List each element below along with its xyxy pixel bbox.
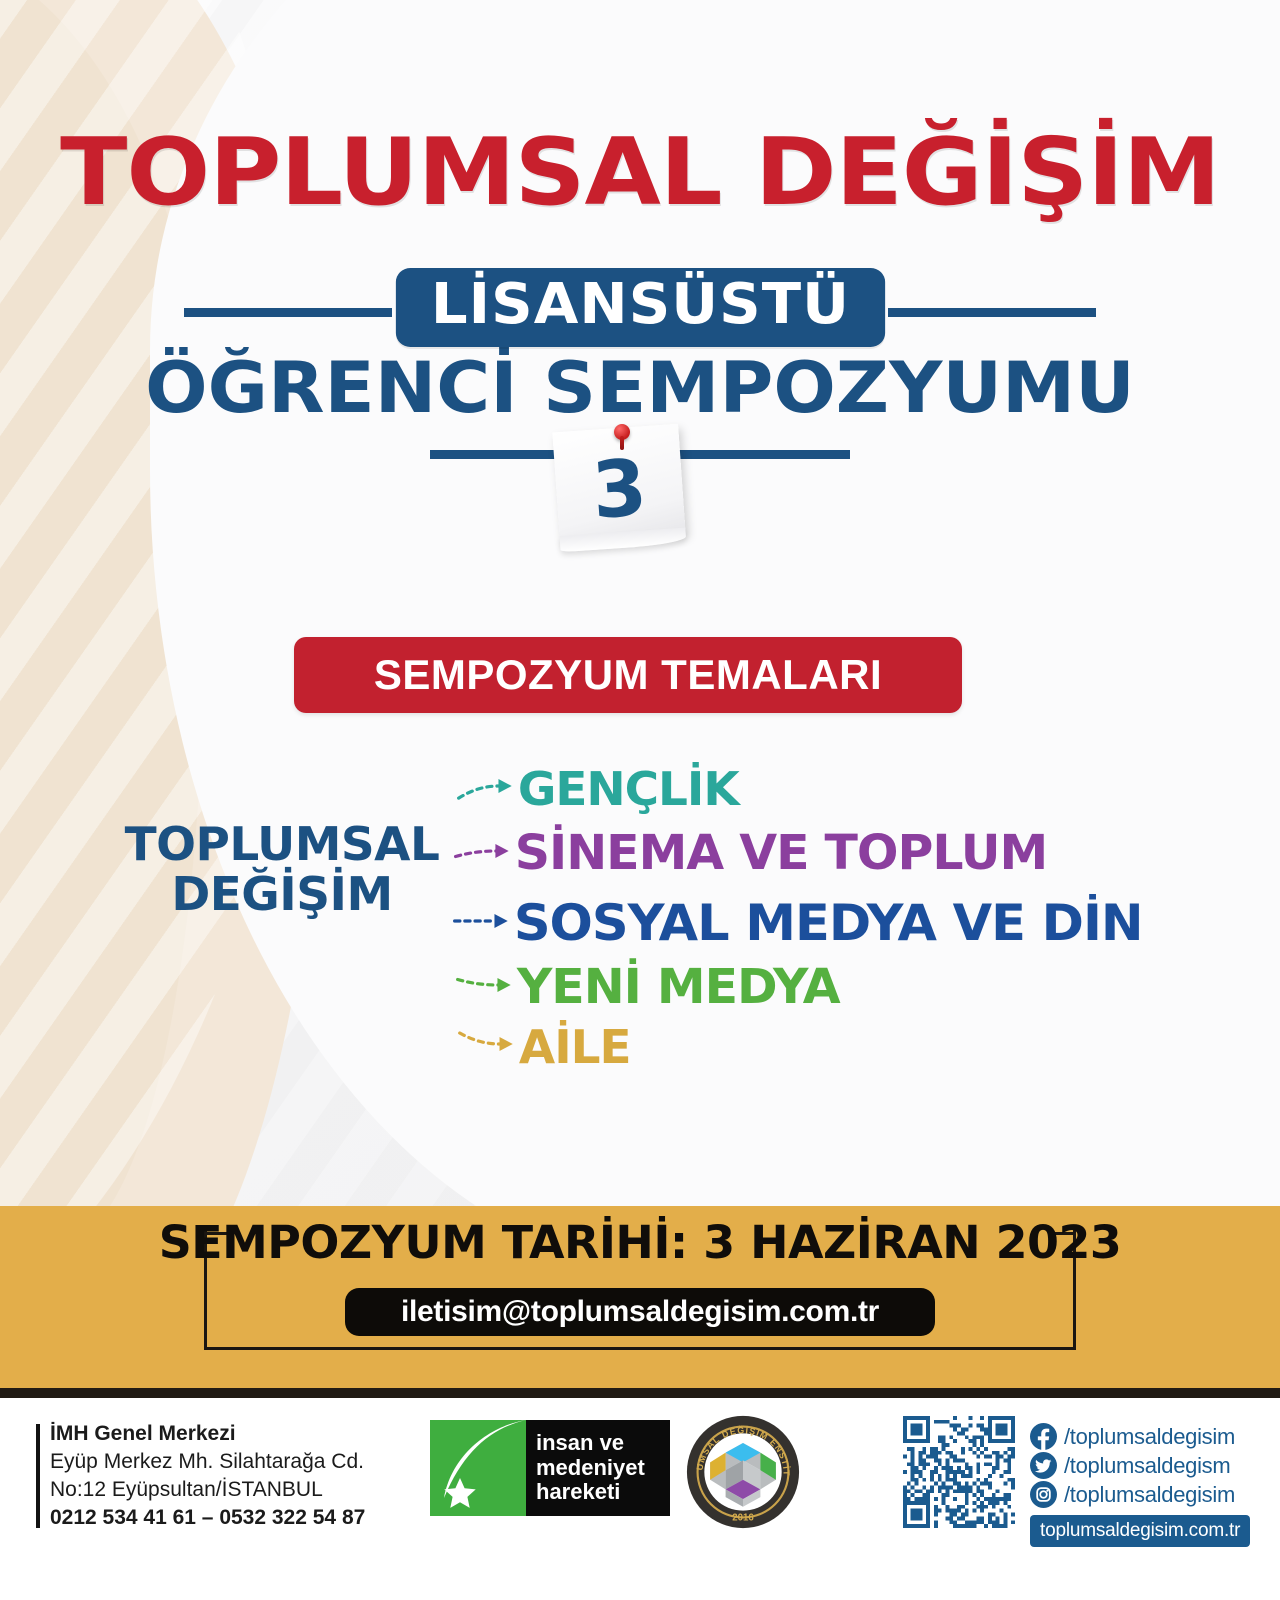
social-handle: /toplumsaldegism — [1064, 1453, 1230, 1479]
curved-arrow-icon — [455, 760, 514, 814]
theme-item: SOSYAL MEDYA VE DİN — [514, 890, 1143, 952]
emblem-year: 2016 — [732, 1512, 754, 1523]
theme-item: AİLE — [519, 1016, 631, 1074]
pushpin-icon — [614, 424, 630, 440]
social-link-twitter[interactable]: /toplumsaldegism — [1030, 1451, 1250, 1480]
imh-line-1: insan ve — [536, 1431, 670, 1456]
address-block: İMH Genel Merkezi Eyüp Merkez Mh. Silaht… — [36, 1420, 365, 1532]
social-handle: /toplumsaldegisim — [1064, 1424, 1235, 1450]
website-link[interactable]: toplumsaldegisim.com.tr — [1030, 1515, 1250, 1547]
social-link-instagram[interactable]: /toplumsaldegisim — [1030, 1480, 1250, 1509]
theme-label: AİLE — [519, 1020, 631, 1074]
subtitle-block: LİSANSÜSTÜ ÖĞRENCİ SEMPOZYUMU — [0, 268, 1280, 425]
theme-label: SİNEMA VE TOPLUM — [515, 825, 1047, 881]
twitter-icon — [1030, 1452, 1057, 1479]
curved-arrow-icon — [454, 958, 513, 1014]
theme-item: SİNEMA VE TOPLUM — [515, 822, 1047, 881]
imh-line-2: medeniyet — [536, 1456, 670, 1481]
social-handle: /toplumsaldegisim — [1064, 1482, 1235, 1508]
instagram-icon — [1030, 1481, 1057, 1508]
social-link-facebook[interactable]: /toplumsaldegisim — [1030, 1422, 1250, 1451]
edition-number: 3 — [552, 424, 685, 543]
rule-left — [184, 308, 392, 317]
band-bottom-bar — [0, 1388, 1280, 1398]
edition-note: 3 — [552, 424, 685, 543]
curved-arrow-icon — [452, 824, 511, 880]
phone-numbers: 0212 534 41 61 – 0532 322 54 87 — [50, 1504, 365, 1532]
footer: İMH Genel Merkezi Eyüp Merkez Mh. Silaht… — [0, 1398, 1280, 1600]
themes-source-label: TOPLUMSAL DEĞİŞİM — [109, 820, 456, 919]
imh-wordmark: insan ve medeniyet hareketi — [526, 1420, 670, 1516]
theme-label: GENÇLİK — [518, 762, 739, 816]
poster: TOPLUMSAL DEĞİŞİM LİSANSÜSTÜ ÖĞRENCİ SEM… — [0, 0, 1280, 1600]
theme-item: YENİ MEDYA — [517, 956, 840, 1015]
address-line-1: Eyüp Merkez Mh. Silahtarağa Cd. — [50, 1448, 365, 1476]
rule-right — [888, 308, 1096, 317]
imh-logo: insan ve medeniyet hareketi — [430, 1420, 670, 1516]
org-name: İMH Genel Merkezi — [50, 1420, 365, 1448]
institute-emblem: TOPLUMSAL DEĞİŞİM ENSTİTÜSÜ 2016 — [685, 1414, 801, 1530]
symposium-date: SEMPOZYUM TARİHİ: 3 HAZİRAN 2023 — [0, 1216, 1280, 1269]
imh-line-3: hareketi — [536, 1480, 670, 1505]
theme-item: GENÇLİK — [518, 758, 739, 816]
contact-email[interactable]: iletisim@toplumsaldegisim.com.tr — [345, 1288, 935, 1336]
curved-arrow-icon — [451, 892, 510, 950]
facebook-icon — [1030, 1423, 1057, 1450]
badge-lisansustu: LİSANSÜSTÜ — [395, 268, 884, 347]
address-line-2: No:12 Eyüpsultan/İSTANBUL — [50, 1476, 365, 1504]
social-links: /toplumsaldegisim/toplumsaldegism/toplum… — [1030, 1422, 1250, 1547]
themes-section: TOPLUMSAL DEĞİŞİM GENÇLİKSİNEMA VE TOPLU… — [0, 740, 1280, 1060]
imh-crescent-star-icon — [430, 1420, 526, 1516]
themes-heading: SEMPOZYUM TEMALARI — [294, 637, 962, 713]
page-title: TOPLUMSAL DEĞİŞİM — [0, 126, 1280, 219]
theme-label: YENİ MEDYA — [517, 959, 840, 1015]
subtitle-text: ÖĞRENCİ SEMPOZYUMU — [0, 351, 1280, 425]
theme-label: SOSYAL MEDYA VE DİN — [514, 894, 1143, 952]
curved-arrow-icon — [456, 1018, 515, 1072]
qr-code[interactable] — [903, 1416, 1015, 1528]
